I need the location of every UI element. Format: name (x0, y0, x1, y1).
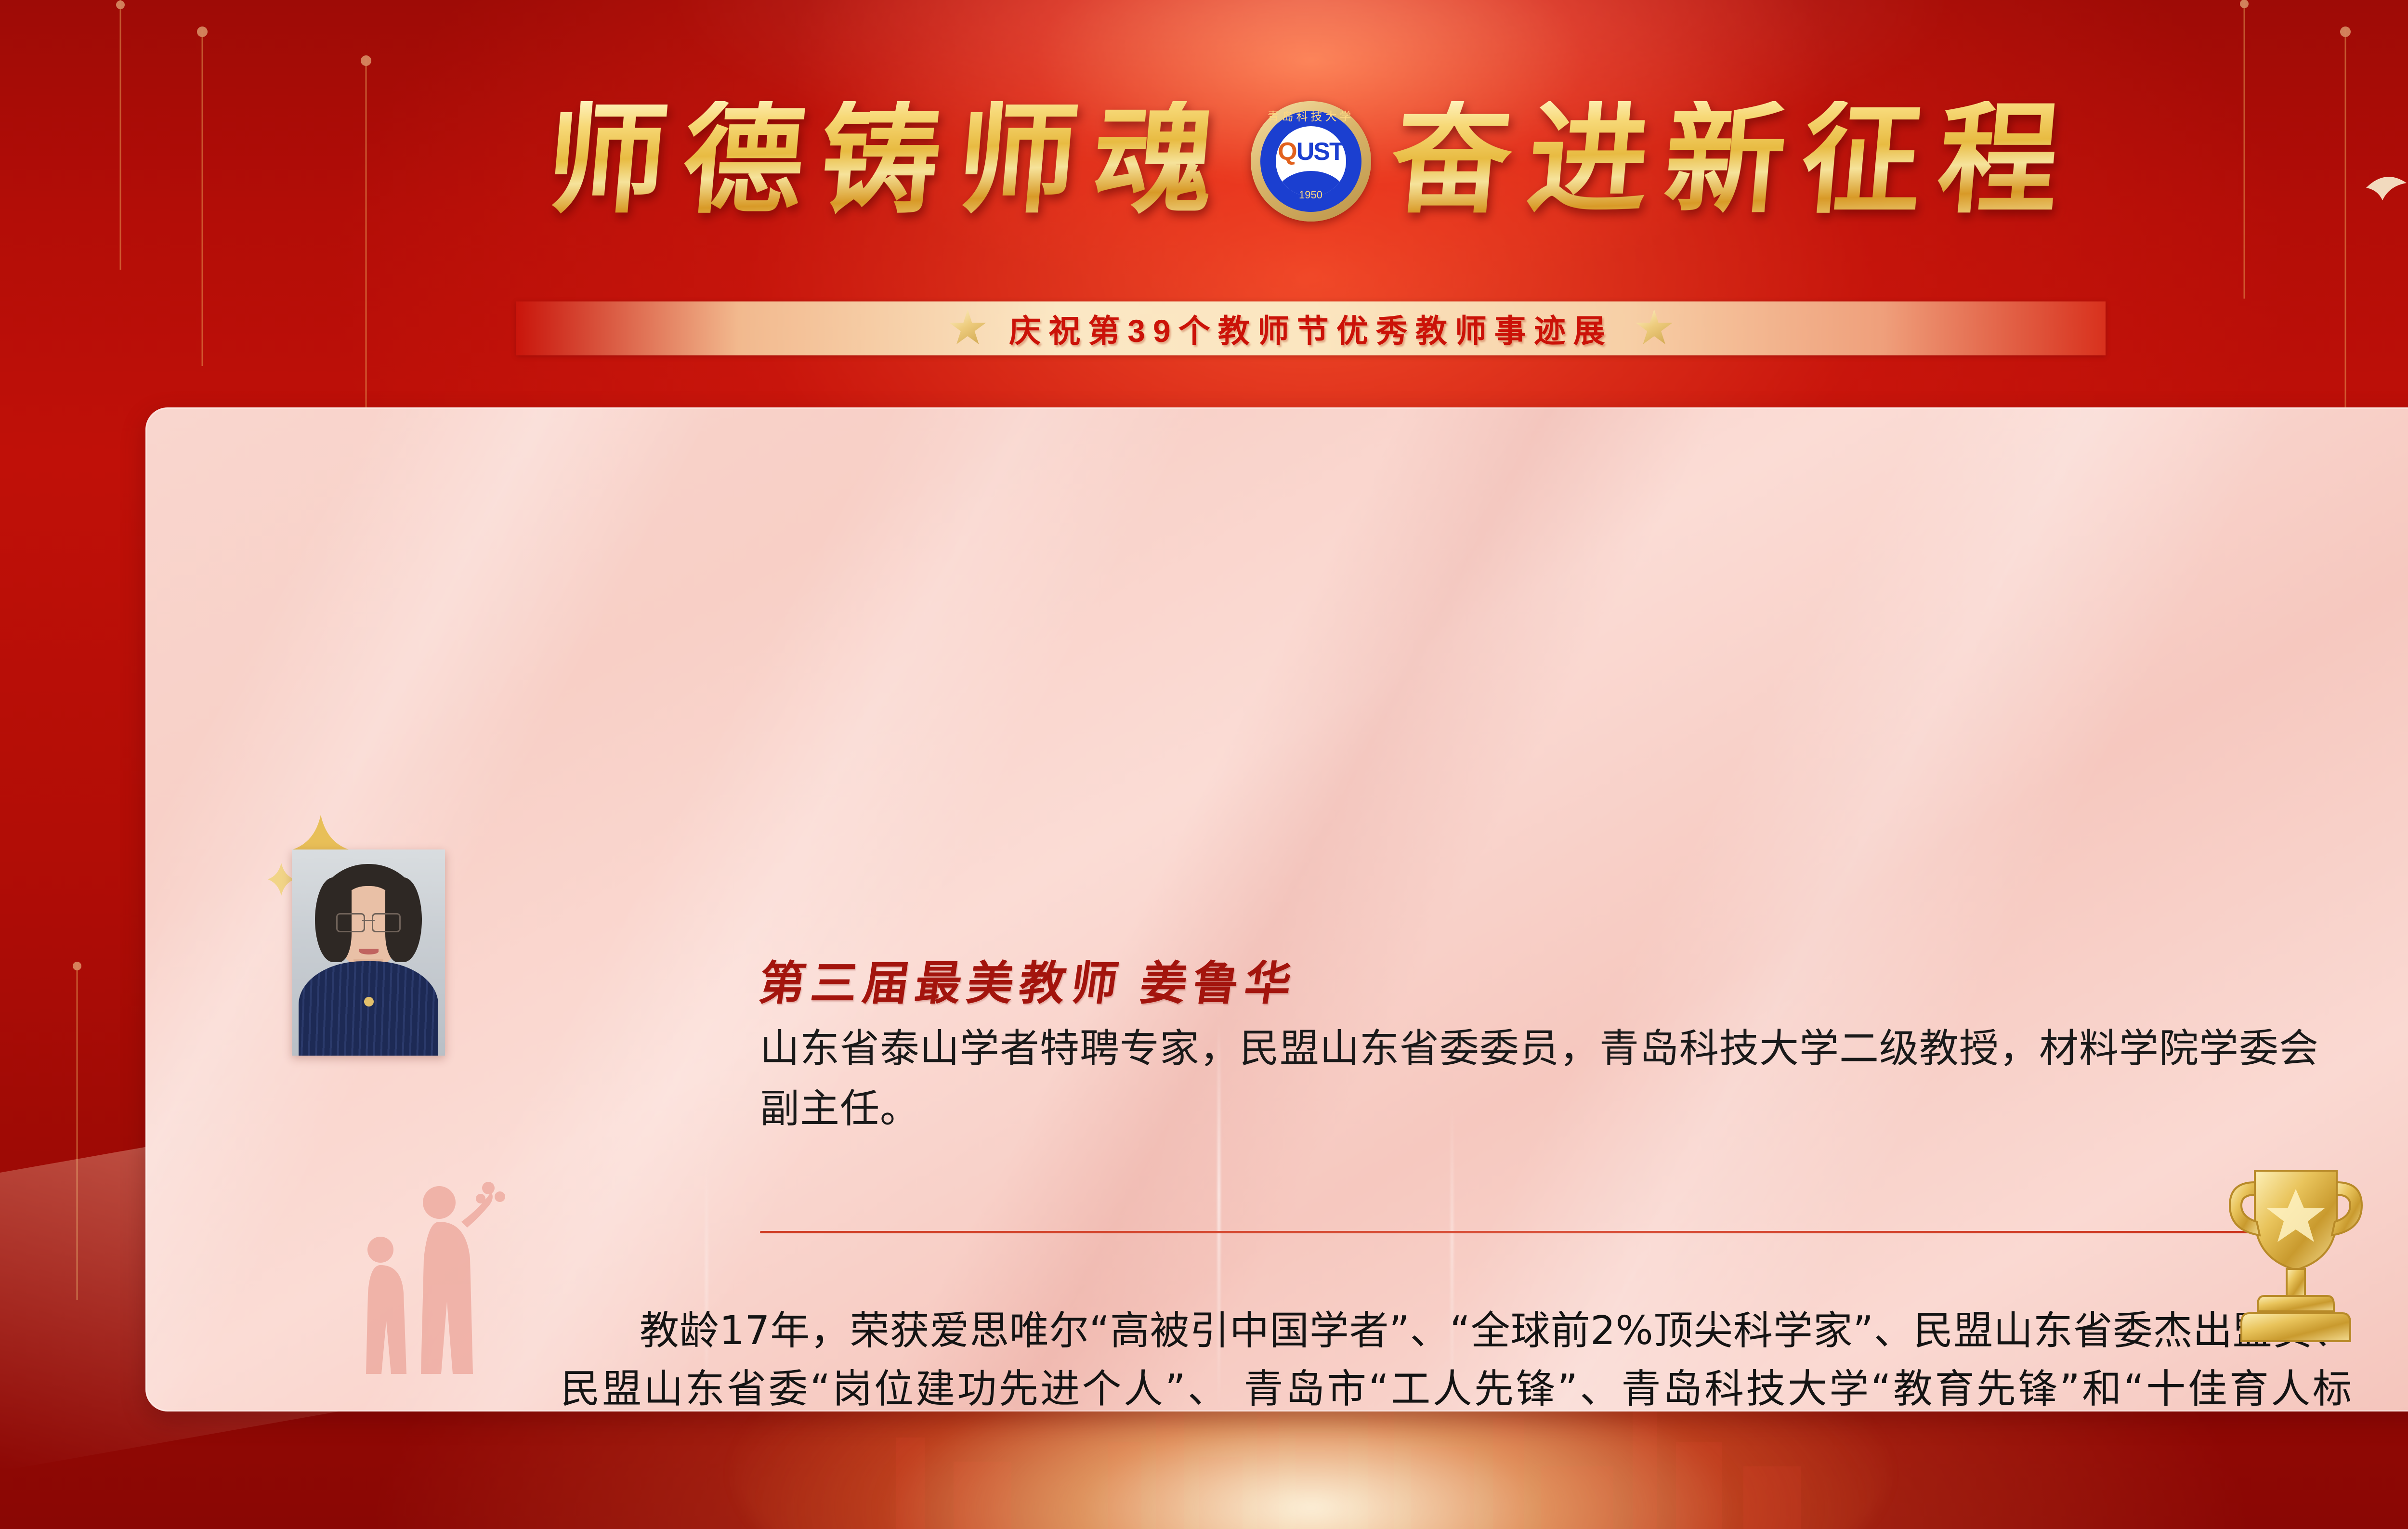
portrait-clothing (299, 961, 438, 1056)
teacher-bio: 山东省泰山学者特聘专家，民盟山东省委委员，青岛科技大学二级教授，材料学院学委会副… (760, 1019, 2347, 1139)
mother-and-child-silhouette (319, 1177, 540, 1380)
portrait-lips (359, 949, 379, 954)
portrait-glasses (336, 913, 401, 929)
main-title-row: 师德铸师魂 青岛科技大学 QUST 1950 奋进新征程 (0, 58, 2408, 265)
logo-acronym-q: Q (1278, 138, 1296, 166)
section-divider (760, 1231, 2344, 1233)
main-title-left: 师德铸师魂 (541, 101, 1236, 222)
university-logo: 青岛科技大学 QUST 1950 (1251, 101, 1371, 222)
logo-chinese-name: 青岛科技大学 (1251, 107, 1371, 124)
logo-year: 1950 (1251, 189, 1371, 201)
teacher-portrait (292, 849, 445, 1056)
logo-acronym: QUST (1251, 137, 1371, 166)
achievements-paragraph: 教龄17年，荣获爱思唯尔“高被引中国学者”、“全球前2%顶尖科学家”、民盟山东省… (561, 1302, 2352, 1411)
award-and-name: 第三届最美教师 姜鲁华 (755, 946, 1302, 1013)
portrait-pendant (364, 997, 374, 1006)
content-card: 第三届最美教师 姜鲁华 山东省泰山学者特聘专家，民盟山东省委委员，青岛科技大学二… (145, 407, 2408, 1411)
star-icon-right (1635, 309, 1674, 348)
star-icon-left (948, 309, 987, 348)
subtitle-ribbon: 庆祝第39个教师节优秀教师事迹展 (516, 301, 2106, 355)
trophy-icon (2192, 1151, 2399, 1359)
logo-acronym-rest: UST (1296, 138, 1344, 166)
poster-root: 师德铸师魂 青岛科技大学 QUST 1950 奋进新征程 (0, 0, 2408, 1529)
main-title-right: 奋进新征程 (1386, 101, 2081, 222)
ribbon-text: 庆祝第39个教师节优秀教师事迹展 (1009, 305, 1612, 352)
